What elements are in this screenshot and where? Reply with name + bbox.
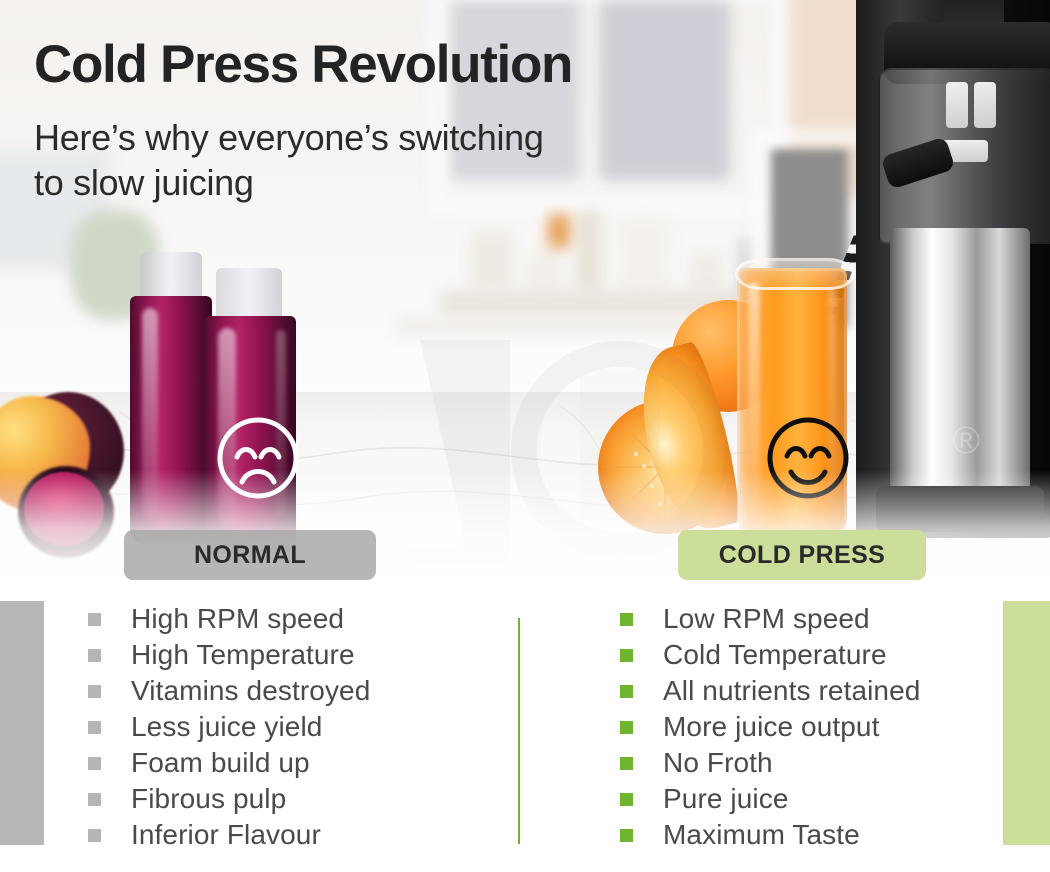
clutter-bottle bbox=[576, 210, 602, 292]
list-item: Low RPM speed bbox=[620, 601, 920, 637]
list-item: Foam build up bbox=[88, 745, 370, 781]
list-item: Vitamins destroyed bbox=[88, 673, 370, 709]
juicer-auger-highlight-a bbox=[946, 82, 968, 128]
clutter-cup bbox=[690, 252, 724, 292]
column-divider bbox=[518, 618, 520, 844]
list-item-label: Inferior Flavour bbox=[131, 819, 321, 851]
bullet-square-icon bbox=[620, 613, 633, 626]
list-item: All nutrients retained bbox=[620, 673, 920, 709]
clutter-jar-a bbox=[470, 232, 514, 290]
list-item: Inferior Flavour bbox=[88, 817, 370, 853]
bullet-square-icon bbox=[88, 757, 101, 770]
bullet-square-icon bbox=[88, 613, 101, 626]
list-item-label: Pure juice bbox=[663, 783, 789, 815]
list-item: More juice output bbox=[620, 709, 920, 745]
list-item: High RPM speed bbox=[88, 601, 370, 637]
bullet-square-icon bbox=[620, 649, 633, 662]
left-accent-bar bbox=[0, 601, 44, 845]
page-subtitle-line-1: Here’s why everyone’s switching bbox=[34, 115, 544, 160]
bullet-square-icon bbox=[88, 721, 101, 734]
list-item-label: High Temperature bbox=[131, 639, 355, 671]
bullet-square-icon bbox=[88, 649, 101, 662]
list-item: No Froth bbox=[620, 745, 920, 781]
bullet-square-icon bbox=[88, 829, 101, 842]
list-item: Pure juice bbox=[620, 781, 920, 817]
bullet-square-icon bbox=[88, 793, 101, 806]
list-item-label: Low RPM speed bbox=[663, 603, 870, 635]
list-item-label: Vitamins destroyed bbox=[131, 675, 370, 707]
right-accent-bar bbox=[1003, 601, 1050, 845]
bullet-square-icon bbox=[620, 829, 633, 842]
clutter-jar-b bbox=[524, 246, 564, 292]
list-item-label: Less juice yield bbox=[131, 711, 322, 743]
bullet-square-icon bbox=[620, 685, 633, 698]
registered-mark: ® bbox=[952, 420, 980, 463]
clutter-pitcher bbox=[616, 216, 672, 292]
list-item-label: More juice output bbox=[663, 711, 880, 743]
list-item-label: High RPM speed bbox=[131, 603, 344, 635]
list-item-label: Maximum Taste bbox=[663, 819, 860, 851]
list-item: Maximum Taste bbox=[620, 817, 920, 853]
list-item: Less juice yield bbox=[88, 709, 370, 745]
bullet-square-icon bbox=[620, 757, 633, 770]
clutter-orange-jar bbox=[548, 214, 570, 248]
list-item-label: All nutrients retained bbox=[663, 675, 920, 707]
juicer-auger-highlight-b bbox=[974, 82, 996, 128]
page-subtitle: Here’s why everyone’s switching to slow … bbox=[34, 115, 544, 206]
list-item-label: No Froth bbox=[663, 747, 773, 779]
page-title: Cold Press Revolution bbox=[34, 38, 572, 91]
bullet-square-icon bbox=[620, 793, 633, 806]
product-infographic: ® NORMAL COLD PRESS High RPM speed High … bbox=[0, 0, 1050, 872]
bullet-square-icon bbox=[88, 685, 101, 698]
normal-feature-list: High RPM speed High Temperature Vitamins… bbox=[88, 601, 370, 853]
list-item-label: Cold Temperature bbox=[663, 639, 887, 671]
list-item: Fibrous pulp bbox=[88, 781, 370, 817]
bullet-square-icon bbox=[620, 721, 633, 734]
list-item-label: Fibrous pulp bbox=[131, 783, 286, 815]
badge-cold-press: COLD PRESS bbox=[678, 530, 926, 580]
list-item: Cold Temperature bbox=[620, 637, 920, 673]
cold-press-feature-list: Low RPM speed Cold Temperature All nutri… bbox=[620, 601, 920, 853]
list-item: High Temperature bbox=[88, 637, 370, 673]
page-subtitle-line-2: to slow juicing bbox=[34, 160, 544, 205]
badge-normal: NORMAL bbox=[124, 530, 376, 580]
list-item-label: Foam build up bbox=[131, 747, 310, 779]
